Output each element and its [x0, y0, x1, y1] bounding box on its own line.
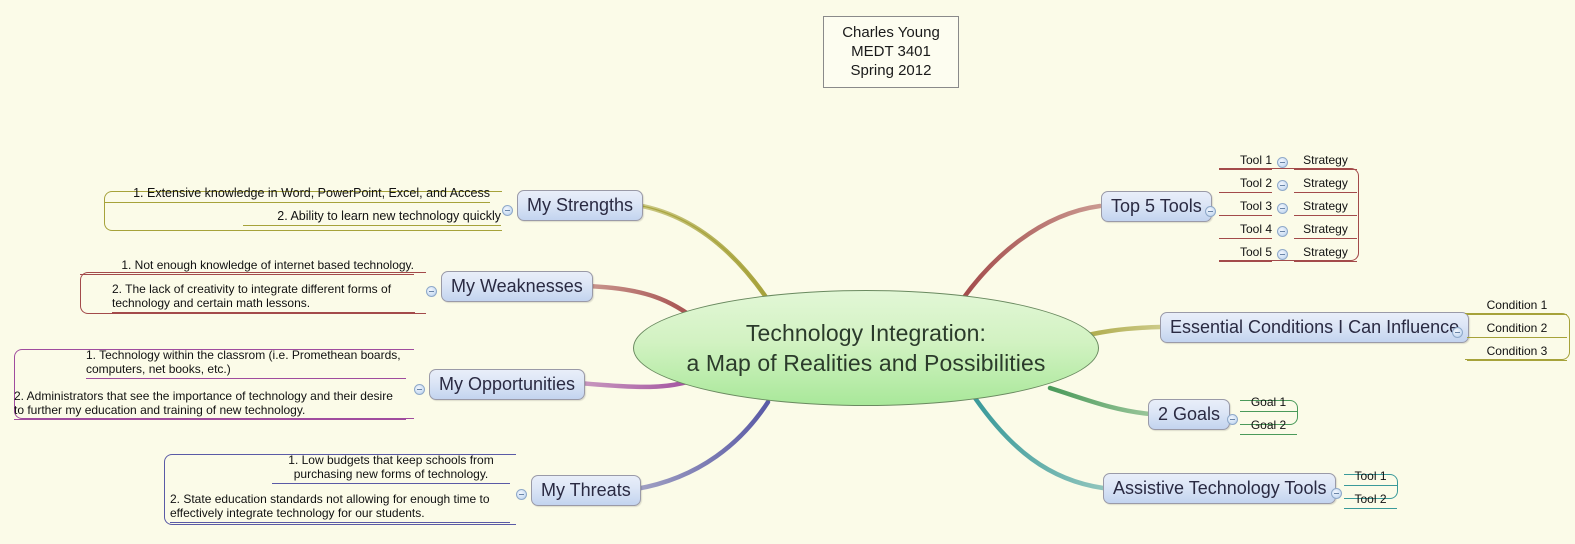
leaf-underline: [1467, 314, 1567, 315]
leaf-tool-4-text: Tool 4: [1240, 222, 1272, 236]
leaf-goal-1[interactable]: Goal 1: [1240, 395, 1297, 414]
leaf-underline: [243, 225, 501, 226]
leaf-underline: [1294, 215, 1357, 216]
leaf-opportunity-2-text: 2. Administrators that see the importanc…: [14, 389, 393, 417]
leaf-underline: [1219, 238, 1272, 239]
collapse-toggle-tool-1[interactable]: [1277, 157, 1288, 168]
leaf-underline: [1219, 192, 1272, 193]
leaf-goal-2-text: Goal 2: [1251, 418, 1286, 432]
leaf-assistive-tool-2-text: Tool 2: [1354, 492, 1386, 506]
leaf-underline: [1240, 411, 1297, 412]
leaf-underline: [1294, 238, 1357, 239]
leaf-underline: [1219, 215, 1272, 216]
leaf-underline: [1344, 508, 1397, 509]
leaf-underline: [14, 419, 406, 420]
collapse-toggle-tool-3[interactable]: [1277, 203, 1288, 214]
leaf-underline: [1240, 434, 1297, 435]
node-assistive-technology-tools[interactable]: Assistive Technology Tools: [1103, 473, 1336, 504]
node-my-weaknesses-label: My Weaknesses: [451, 276, 583, 296]
leaf-tool-2-text: Tool 2: [1240, 176, 1272, 190]
leaf-goal-1-text: Goal 1: [1251, 395, 1286, 409]
leaf-condition-3[interactable]: Condition 3: [1467, 344, 1567, 363]
leaf-weakness-1-text: 1. Not enough knowledge of internet base…: [121, 258, 414, 272]
leaf-strategy-3[interactable]: Strategy: [1294, 199, 1357, 218]
leaf-opportunity-1[interactable]: 1. Technology within the classrom (i.e. …: [86, 348, 406, 381]
leaf-tool-1[interactable]: Tool 1: [1219, 153, 1272, 172]
leaf-condition-3-text: Condition 3: [1487, 344, 1548, 358]
leaf-underline: [104, 202, 490, 203]
leaf-weakness-2-text: 2. The lack of creativity to integrate d…: [112, 282, 391, 310]
leaf-underline: [112, 312, 415, 313]
leaf-condition-1-text: Condition 1: [1487, 298, 1548, 312]
leaf-tool-1-text: Tool 1: [1240, 153, 1272, 167]
node-my-weaknesses[interactable]: My Weaknesses: [441, 271, 593, 302]
central-line-2: a Map of Realities and Possibilities: [687, 350, 1046, 376]
node-top-5-tools[interactable]: Top 5 Tools: [1101, 191, 1212, 222]
leaf-tool-3[interactable]: Tool 3: [1219, 199, 1272, 218]
term: Spring 2012: [828, 61, 954, 80]
leaf-underline: [1467, 337, 1567, 338]
leaf-weakness-1[interactable]: 1. Not enough knowledge of internet base…: [80, 258, 414, 277]
leaf-tool-5[interactable]: Tool 5: [1219, 245, 1272, 264]
node-2-goals-label: 2 Goals: [1158, 404, 1220, 424]
central-line-1: Technology Integration:: [746, 320, 986, 346]
central-node-text: Technology Integration: a Map of Realiti…: [687, 318, 1046, 378]
collapse-toggle-weaknesses[interactable]: [426, 286, 437, 297]
leaf-threat-1-text: 1. Low budgets that keep schools from pu…: [288, 453, 493, 481]
leaf-underline: [86, 378, 406, 379]
author-name: Charles Young: [828, 23, 954, 42]
collapse-toggle-tool-2[interactable]: [1277, 180, 1288, 191]
node-top-5-tools-label: Top 5 Tools: [1111, 196, 1202, 216]
collapse-toggle-tool-5[interactable]: [1277, 249, 1288, 260]
leaf-strategy-5-text: Strategy: [1303, 245, 1348, 259]
leaf-strategy-4-text: Strategy: [1303, 222, 1348, 236]
collapse-toggle-threats[interactable]: [516, 489, 527, 500]
collapse-toggle-top-5-tools[interactable]: [1205, 206, 1216, 217]
leaf-underline: [1344, 485, 1397, 486]
leaf-assistive-tool-1[interactable]: Tool 1: [1344, 469, 1397, 488]
author-title-box: Charles Young MEDT 3401 Spring 2012: [823, 16, 959, 88]
leaf-underline: [272, 483, 510, 484]
leaf-tool-3-text: Tool 3: [1240, 199, 1272, 213]
node-my-threats[interactable]: My Threats: [531, 475, 641, 506]
leaf-strategy-2-text: Strategy: [1303, 176, 1348, 190]
node-assistive-technology-tools-label: Assistive Technology Tools: [1113, 478, 1326, 498]
leaf-goal-2[interactable]: Goal 2: [1240, 418, 1297, 437]
node-my-opportunities-label: My Opportunities: [439, 374, 575, 394]
leaf-condition-2[interactable]: Condition 2: [1467, 321, 1567, 340]
node-2-goals[interactable]: 2 Goals: [1148, 399, 1230, 430]
leaf-strategy-2[interactable]: Strategy: [1294, 176, 1357, 195]
leaf-strength-2[interactable]: 2. Ability to learn new technology quick…: [243, 209, 501, 228]
leaf-threat-2[interactable]: 2. State education standards not allowin…: [170, 492, 510, 525]
leaf-underline: [1294, 169, 1357, 170]
leaf-strategy-3-text: Strategy: [1303, 199, 1348, 213]
leaf-threat-2-text: 2. State education standards not allowin…: [170, 492, 490, 520]
leaf-underline: [1294, 192, 1357, 193]
collapse-toggle-tool-4[interactable]: [1277, 226, 1288, 237]
leaf-threat-1[interactable]: 1. Low budgets that keep schools from pu…: [272, 453, 510, 486]
leaf-strength-2-text: 2. Ability to learn new technology quick…: [277, 209, 501, 223]
node-essential-conditions-label: Essential Conditions I Can Influence: [1170, 317, 1459, 337]
collapse-toggle-essential-conditions[interactable]: [1452, 327, 1463, 338]
collapse-toggle-opportunities[interactable]: [414, 384, 425, 395]
leaf-strategy-4[interactable]: Strategy: [1294, 222, 1357, 241]
leaf-strategy-1-text: Strategy: [1303, 153, 1348, 167]
leaf-tool-2[interactable]: Tool 2: [1219, 176, 1272, 195]
leaf-strategy-1[interactable]: Strategy: [1294, 153, 1357, 172]
leaf-underline: [80, 274, 414, 275]
node-my-strengths-label: My Strengths: [527, 195, 633, 215]
mind-map-canvas: Charles Young MEDT 3401 Spring 2012 Tech…: [0, 0, 1575, 544]
leaf-opportunity-1-text: 1. Technology within the classrom (i.e. …: [86, 348, 401, 376]
leaf-underline: [1467, 360, 1567, 361]
leaf-opportunity-2[interactable]: 2. Administrators that see the importanc…: [14, 389, 406, 422]
leaf-strength-1-text: 1. Extensive knowledge in Word, PowerPoi…: [133, 186, 490, 200]
leaf-condition-2-text: Condition 2: [1487, 321, 1548, 335]
course-code: MEDT 3401: [828, 42, 954, 61]
leaf-condition-1[interactable]: Condition 1: [1467, 298, 1567, 317]
collapse-toggle-2-goals[interactable]: [1227, 414, 1238, 425]
leaf-underline: [1219, 169, 1272, 170]
leaf-assistive-tool-2[interactable]: Tool 2: [1344, 492, 1397, 511]
central-node[interactable]: Technology Integration: a Map of Realiti…: [633, 290, 1099, 406]
leaf-tool-5-text: Tool 5: [1240, 245, 1272, 259]
leaf-assistive-tool-1-text: Tool 1: [1354, 469, 1386, 483]
leaf-weakness-2[interactable]: 2. The lack of creativity to integrate d…: [112, 282, 415, 315]
node-my-strengths[interactable]: My Strengths: [517, 190, 643, 221]
leaf-strategy-5[interactable]: Strategy: [1294, 245, 1357, 264]
node-my-opportunities[interactable]: My Opportunities: [429, 369, 585, 400]
leaf-tool-4[interactable]: Tool 4: [1219, 222, 1272, 241]
node-my-threats-label: My Threats: [541, 480, 631, 500]
collapse-toggle-strengths[interactable]: [502, 205, 513, 216]
node-essential-conditions[interactable]: Essential Conditions I Can Influence: [1160, 312, 1469, 343]
leaf-underline: [1219, 261, 1272, 262]
leaf-underline: [170, 522, 510, 523]
collapse-toggle-assistive-technology[interactable]: [1331, 488, 1342, 499]
leaf-underline: [1294, 261, 1357, 262]
leaf-strength-1[interactable]: 1. Extensive knowledge in Word, PowerPoi…: [104, 186, 490, 205]
